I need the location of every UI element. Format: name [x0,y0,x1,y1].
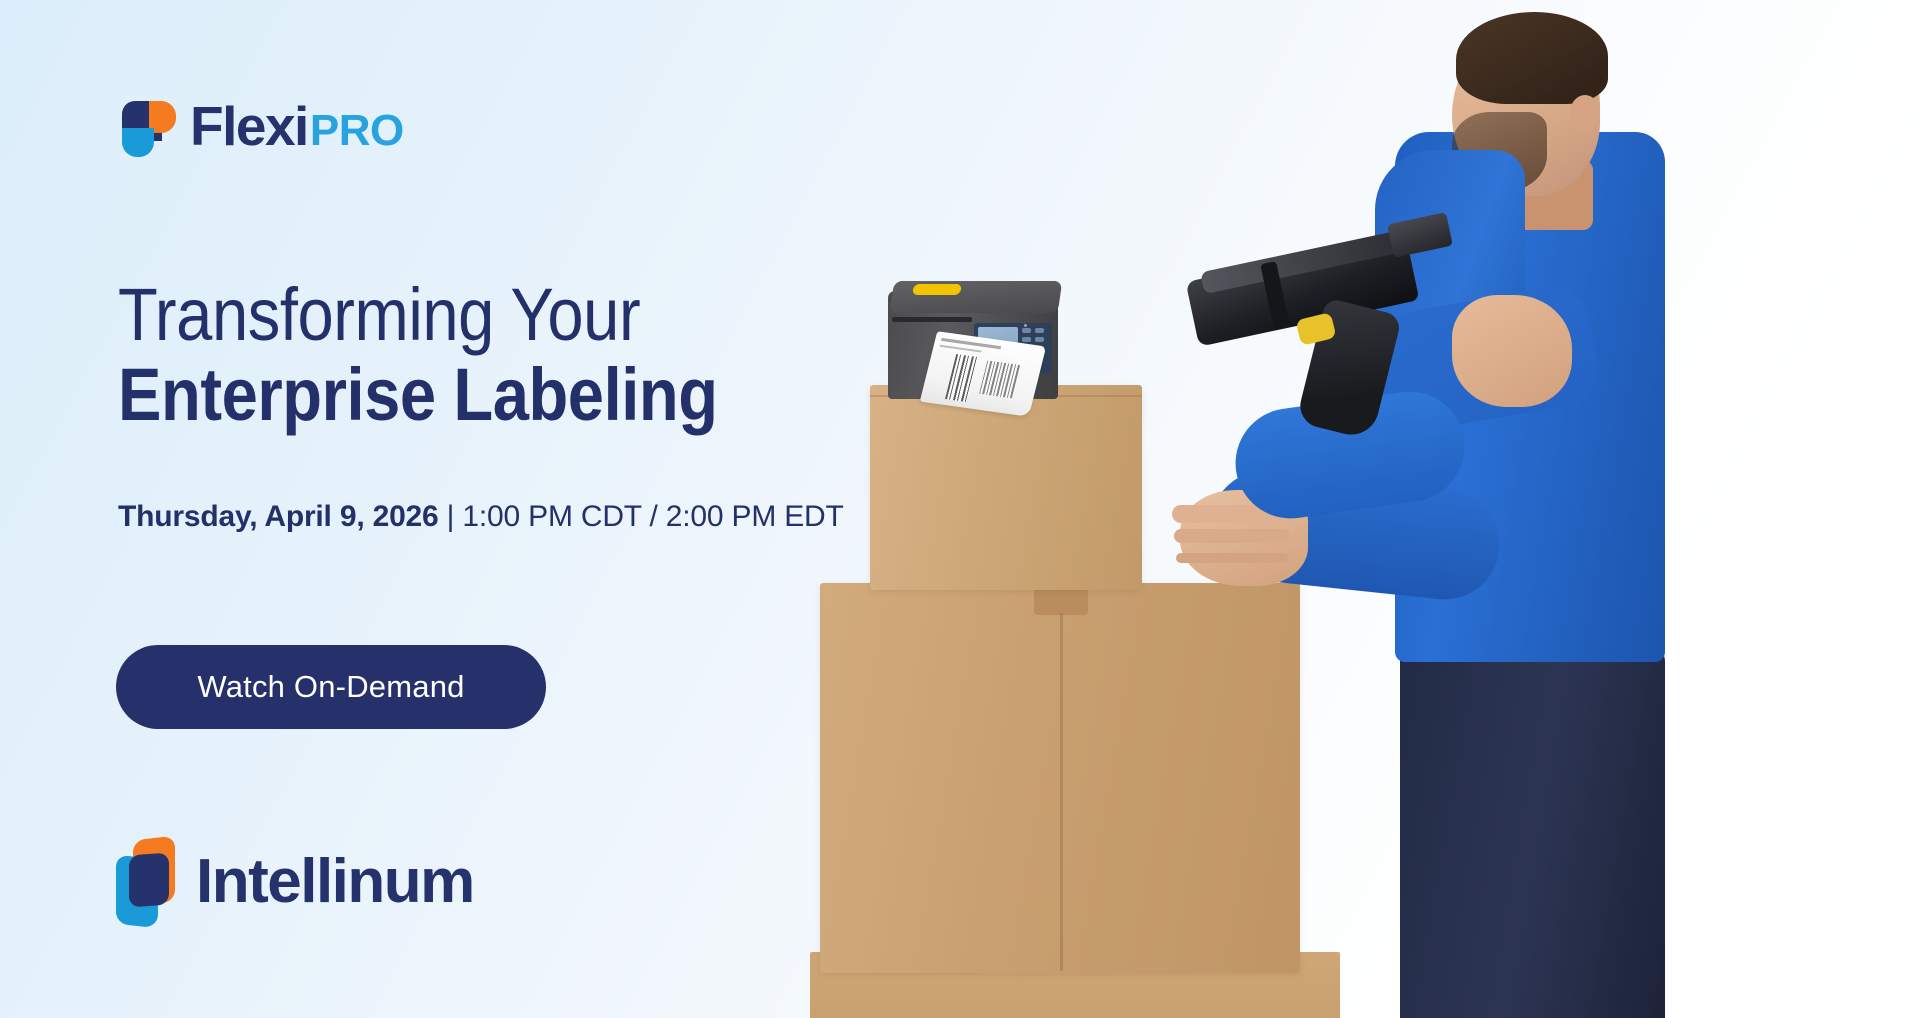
webinar-times: 1:00 PM CDT / 2:00 PM EDT [462,500,843,533]
flexipro-word-secondary: PRO [310,109,404,153]
watch-on-demand-button[interactable]: Watch On-Demand [116,645,546,729]
scanner-emitter-head [1387,212,1453,258]
flexipro-mark-icon [116,95,176,157]
webinar-promo-banner: Flexi PRO Transforming Your Enterprise L… [0,0,1920,1018]
webinar-schedule: Thursday, April 9, 2026 | 1:00 PM CDT / … [118,500,844,534]
intellinum-logo[interactable]: Intellinum [116,838,474,926]
intellinum-mark-navy-shape [129,853,169,908]
headline-line-2: Enterprise Labeling [118,358,804,432]
webinar-date: Thursday, April 9, 2026 [118,500,439,533]
flexipro-mark-blue-shape [122,128,154,157]
promo-content: Flexi PRO Transforming Your Enterprise L… [116,0,956,1018]
intellinum-mark-icon [116,838,178,926]
flexipro-wordmark: Flexi PRO [190,99,404,154]
flexipro-word-primary: Flexi [190,99,308,154]
headline-line-1: Transforming Your [118,278,804,358]
page-title: Transforming Your Enterprise Labeling [118,278,804,432]
intellinum-wordmark: Intellinum [196,851,474,913]
image-artifact-dot [1024,324,1027,327]
schedule-separator: | [439,500,463,533]
flexipro-logo[interactable]: Flexi PRO [116,95,404,157]
